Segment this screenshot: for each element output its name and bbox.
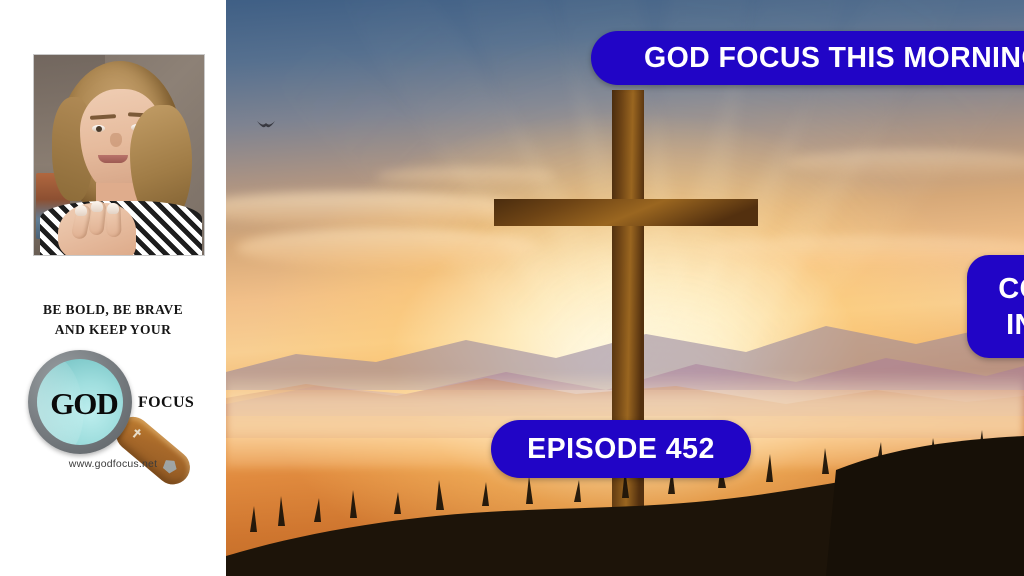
episode-badge[interactable]: EPISODE 452	[491, 420, 751, 478]
topic-line-1: COMPLETE	[998, 271, 1024, 307]
logo-word-focus: FOCUS	[138, 394, 194, 412]
tagline-line-1: BE BOLD, BE BRAVE	[0, 300, 226, 320]
thumbnail-canvas: BE BOLD, BE BRAVE AND KEEP YOUR ✝ GOD FO…	[0, 0, 1024, 576]
logo-word-god: GOD	[30, 386, 138, 422]
portrait-illustration	[34, 55, 204, 255]
tagline-line-2: AND KEEP YOUR	[0, 320, 226, 340]
hero-image: GOD FOCUS THIS MORNING COMPLETE IN CHRIS…	[226, 0, 1024, 576]
title-badge[interactable]: GOD FOCUS THIS MORNING	[591, 31, 1024, 85]
topic-line-2: IN CHRIST	[1006, 307, 1024, 343]
topic-badge[interactable]: COMPLETE IN CHRIST	[967, 255, 1024, 358]
sidebar-panel: BE BOLD, BE BRAVE AND KEEP YOUR ✝ GOD FO…	[0, 0, 226, 576]
website-url: www.godfocus.net	[0, 458, 226, 470]
host-portrait	[33, 54, 205, 256]
magnifier-logo: ✝ GOD FOCUS	[0, 344, 226, 464]
